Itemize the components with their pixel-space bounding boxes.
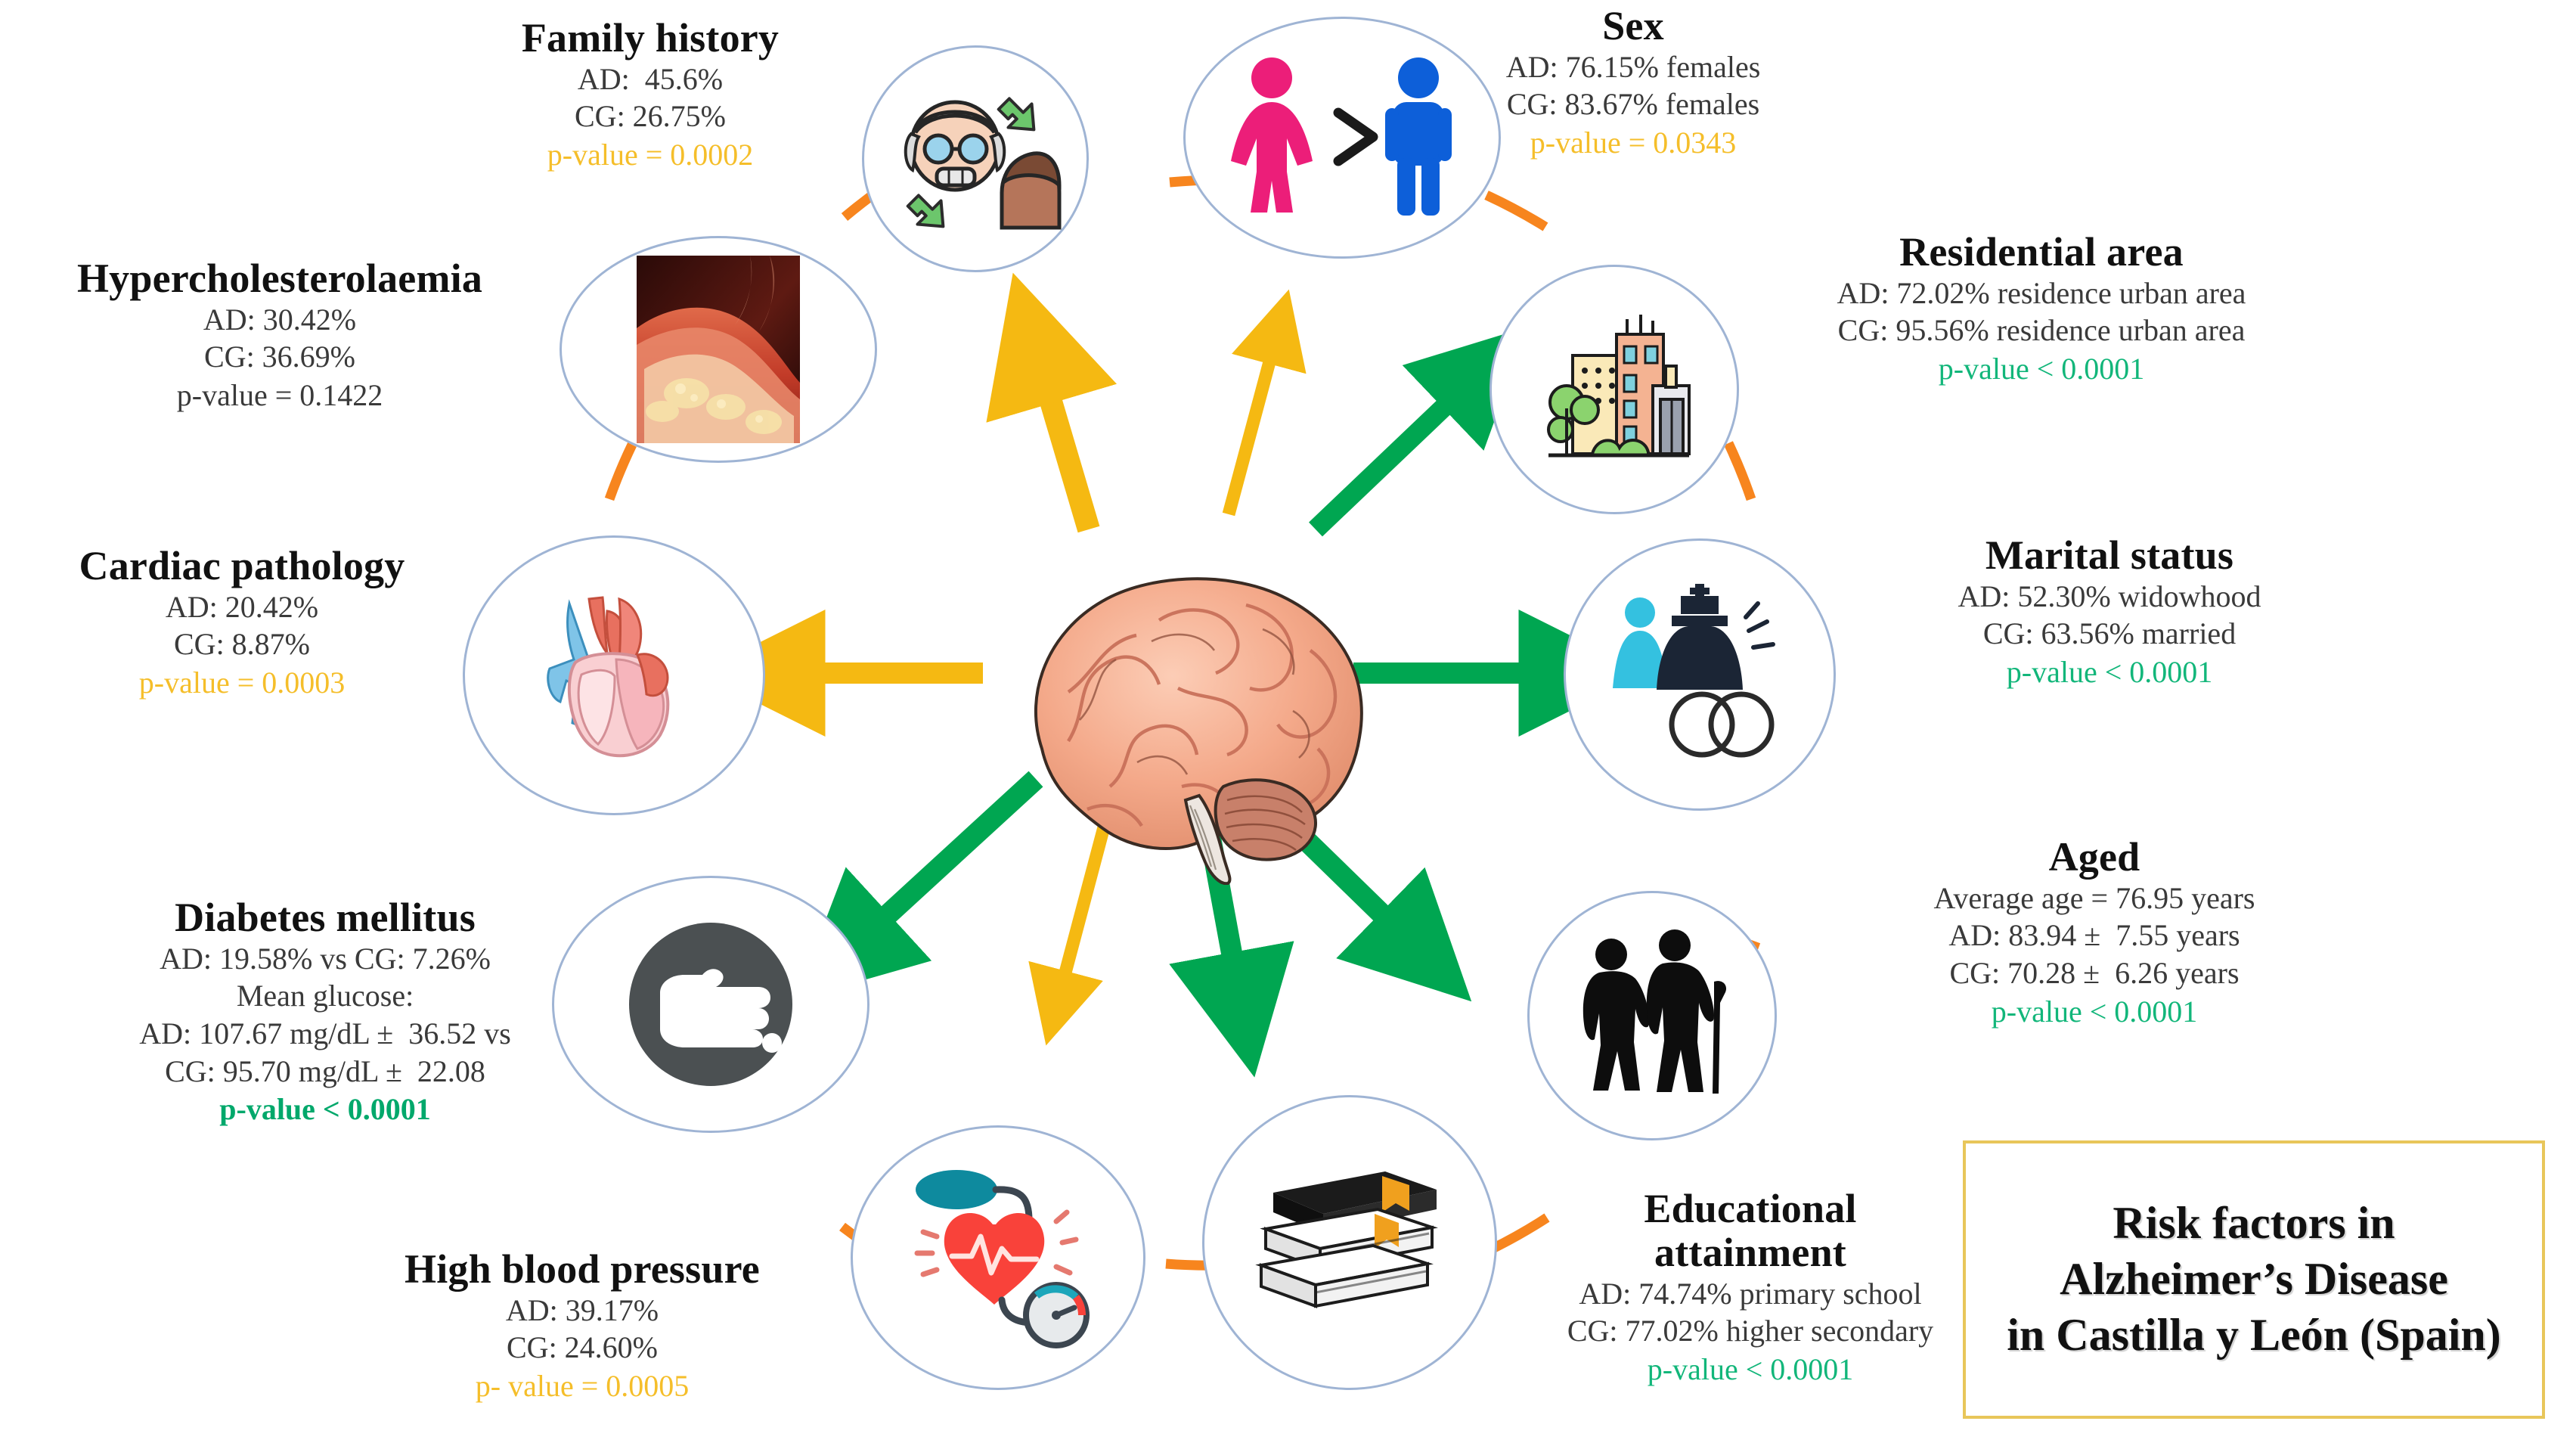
node-high-blood-pressure[interactable] bbox=[851, 1125, 1145, 1390]
factor-stat-line: AD: 20.42% bbox=[8, 588, 476, 626]
factor-stat-line: AD: 72.02% residence urban area bbox=[1739, 275, 2344, 312]
factor-title: Sex bbox=[1437, 5, 1830, 48]
factor-title: Hypercholesterolaemia bbox=[0, 257, 560, 301]
title-card-text: Risk factors in Alzheimer’s Disease in C… bbox=[2007, 1196, 2500, 1363]
factor-pvalue: p-value = 0.0343 bbox=[1437, 123, 1830, 162]
factor-stat-line: AD: 83.94 ± 7.55 years bbox=[1830, 917, 2359, 954]
marriage-rings-icon bbox=[1605, 584, 1794, 765]
elderly-couple-icon bbox=[1569, 929, 1735, 1103]
factor-pvalue: p-value < 0.0001 bbox=[1852, 653, 2367, 691]
books-icon bbox=[1248, 1159, 1452, 1326]
label-marital-status: Marital status AD: 52.30% widowhood CG: … bbox=[1852, 534, 2367, 691]
arrow-family-history bbox=[1037, 355, 1089, 529]
node-marital-status[interactable] bbox=[1564, 538, 1836, 811]
factor-stat-line: AD: 39.17% bbox=[318, 1292, 847, 1330]
label-sex: Sex AD: 76.15% females CG: 83.67% female… bbox=[1437, 5, 1830, 162]
label-diabetes-mellitus: Diabetes mellitus AD: 19.58% vs CG: 7.26… bbox=[68, 896, 582, 1128]
label-aged: Aged Average age = 76.95 years AD: 83.94… bbox=[1830, 836, 2359, 1031]
node-residential-area[interactable] bbox=[1489, 265, 1739, 514]
factor-stat-line: CG: 95.70 mg/dL ± 22.08 bbox=[68, 1053, 582, 1091]
factor-stat-line: CG: 77.02% higher secondary bbox=[1512, 1312, 1989, 1350]
sex-icon bbox=[1217, 51, 1467, 225]
factor-stat-line: AD: 30.42% bbox=[0, 301, 560, 339]
family-history-icon bbox=[888, 79, 1062, 238]
arrow-sex bbox=[1229, 337, 1276, 514]
node-diabetes-mellitus[interactable] bbox=[552, 876, 870, 1133]
title-card: Risk factors in Alzheimer’s Disease in C… bbox=[1963, 1140, 2545, 1419]
factor-title: Cardiac pathology bbox=[8, 545, 476, 588]
factor-title: Residential area bbox=[1739, 231, 2344, 275]
factor-stat-line: AD: 52.30% widowhood bbox=[1852, 578, 2367, 616]
factor-stat-line: CG: 83.67% females bbox=[1437, 85, 1830, 123]
label-educational-attainment: Educational attainment AD: 74.74% primar… bbox=[1512, 1187, 1989, 1389]
factor-title: High blood pressure bbox=[318, 1248, 847, 1292]
city-buildings-icon bbox=[1527, 310, 1701, 469]
factor-stat-line: CG: 70.28 ± 6.26 years bbox=[1830, 954, 2359, 992]
factor-pvalue: p-value < 0.0001 bbox=[1830, 992, 2359, 1031]
blood-pressure-icon bbox=[896, 1167, 1100, 1348]
glucose-test-icon bbox=[624, 917, 798, 1091]
factor-stat-line: Average age = 76.95 years bbox=[1830, 880, 2359, 917]
factor-title: Aged bbox=[1830, 836, 2359, 880]
factor-pvalue: p-value = 0.0003 bbox=[8, 663, 476, 702]
factor-pvalue: p-value < 0.0001 bbox=[68, 1090, 582, 1128]
node-cardiac-pathology[interactable] bbox=[463, 535, 765, 815]
factor-stat-line: CG: 36.69% bbox=[0, 338, 560, 376]
factor-pvalue: p-value < 0.0001 bbox=[1512, 1350, 1989, 1389]
factor-stat-line: AD: 45.6% bbox=[454, 61, 847, 98]
label-residential-area: Residential area AD: 72.02% residence ur… bbox=[1739, 231, 2344, 388]
label-hypercholesterolaemia: Hypercholesterolaemia AD: 30.42% CG: 36.… bbox=[0, 257, 560, 414]
label-family-history: Family history AD: 45.6% CG: 26.75% p-va… bbox=[454, 17, 847, 174]
factor-pvalue: p- value = 0.0005 bbox=[318, 1367, 847, 1405]
factor-stat-line: Mean glucose: bbox=[68, 977, 582, 1015]
factor-pvalue: p-value = 0.1422 bbox=[0, 376, 560, 414]
factor-stat-line: CG: 8.87% bbox=[8, 625, 476, 663]
factor-stat-line: CG: 26.75% bbox=[454, 98, 847, 135]
factor-stat-line: AD: 107.67 mg/dL ± 36.52 vs bbox=[68, 1015, 582, 1053]
factor-stat-line: AD: 74.74% primary school bbox=[1512, 1275, 1989, 1313]
factor-pvalue: p-value = 0.0002 bbox=[454, 135, 847, 174]
node-educational-attainment[interactable] bbox=[1202, 1095, 1497, 1390]
arrow-residential-area bbox=[1316, 378, 1474, 529]
node-hypercholesterolaemia[interactable] bbox=[560, 236, 877, 463]
factor-stat-line: AD: 19.58% vs CG: 7.26% bbox=[68, 940, 582, 978]
label-high-blood-pressure: High blood pressure AD: 39.17% CG: 24.60… bbox=[318, 1248, 847, 1405]
heart-anatomy-icon bbox=[519, 581, 708, 770]
factor-title: Diabetes mellitus bbox=[68, 896, 582, 940]
node-family-history[interactable] bbox=[862, 45, 1089, 272]
factor-stat-line: CG: 24.60% bbox=[318, 1329, 847, 1367]
factor-pvalue: p-value < 0.0001 bbox=[1739, 349, 2344, 388]
factor-stat-line: CG: 95.56% residence urban area bbox=[1739, 312, 2344, 349]
infographic-canvas: Family history AD: 45.6% CG: 26.75% p-va… bbox=[0, 0, 2576, 1446]
factor-stat-line: AD: 76.15% females bbox=[1437, 48, 1830, 86]
factor-stat-line: CG: 63.56% married bbox=[1852, 615, 2367, 653]
brain-icon bbox=[997, 560, 1405, 885]
label-cardiac-pathology: Cardiac pathology AD: 20.42% CG: 8.87% p… bbox=[8, 545, 476, 702]
artery-plaque-icon bbox=[637, 256, 800, 443]
factor-title: Educational attainment bbox=[1512, 1187, 1989, 1275]
node-aged[interactable] bbox=[1527, 891, 1777, 1140]
factor-title: Family history bbox=[454, 17, 847, 61]
factor-title: Marital status bbox=[1852, 534, 2367, 578]
